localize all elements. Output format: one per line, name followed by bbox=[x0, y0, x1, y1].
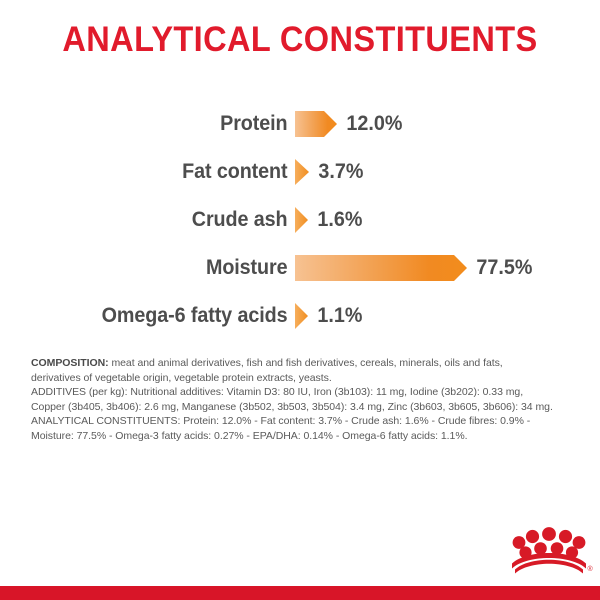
constituent-value: 1.6% bbox=[308, 208, 362, 232]
constituent-bar bbox=[295, 207, 308, 233]
page-title: ANALYTICAL CONSTITUENTS bbox=[21, 20, 579, 60]
composition-line-4: Copper (3b405, 3b406): 2.6 mg, Manganese… bbox=[31, 400, 576, 415]
constituent-label: Fat content bbox=[18, 160, 295, 184]
composition-text-block: COMPOSITION: meat and animal derivatives… bbox=[31, 356, 576, 444]
composition-lead-label: COMPOSITION: bbox=[31, 357, 109, 369]
constituent-value: 12.0% bbox=[337, 112, 402, 136]
constituent-row: Protein 12.0% bbox=[0, 100, 600, 148]
constituent-bar-wrap bbox=[295, 303, 308, 329]
constituent-label: Moisture bbox=[18, 256, 295, 280]
product-info-panel: ANALYTICAL CONSTITUENTS Protein 12.0% Fa… bbox=[0, 0, 600, 600]
constituent-bar-wrap bbox=[295, 111, 337, 137]
constituent-row: Crude ash 1.6% bbox=[0, 196, 600, 244]
constituent-label: Omega-6 fatty acids bbox=[18, 304, 295, 328]
constituent-bar-wrap bbox=[295, 207, 308, 233]
bottom-accent-bar bbox=[0, 586, 600, 600]
royal-canin-crown-logo: ® bbox=[505, 519, 595, 579]
constituent-value: 3.7% bbox=[309, 160, 363, 184]
constituent-row: Moisture 77.5% bbox=[0, 244, 600, 292]
composition-line-6: Moisture: 77.5% - Omega-3 fatty acids: 0… bbox=[31, 429, 576, 444]
constituent-bar-wrap bbox=[295, 255, 467, 281]
composition-line: COMPOSITION: meat and animal derivatives… bbox=[31, 356, 576, 371]
constituent-bar bbox=[295, 111, 337, 137]
composition-line-5: ANALYTICAL CONSTITUENTS: Protein: 12.0% … bbox=[31, 414, 576, 429]
registered-trademark-mark: ® bbox=[588, 565, 594, 573]
constituent-row: Omega-6 fatty acids 1.1% bbox=[0, 292, 600, 340]
composition-line-2: derivatives of vegetable origin, vegetab… bbox=[31, 371, 576, 386]
constituent-value: 1.1% bbox=[308, 304, 362, 328]
constituent-bar bbox=[295, 159, 309, 185]
constituent-value: 77.5% bbox=[467, 256, 532, 280]
composition-line-1: meat and animal derivatives, fish and fi… bbox=[109, 357, 503, 369]
analytical-constituents-chart: Protein 12.0% Fat content 3.7% Crude ash… bbox=[0, 100, 600, 340]
constituent-label: Crude ash bbox=[18, 208, 295, 232]
constituent-row: Fat content 3.7% bbox=[0, 148, 600, 196]
constituent-label: Protein bbox=[18, 112, 295, 136]
constituent-bar bbox=[295, 255, 467, 281]
crown-icon: ® bbox=[505, 519, 595, 579]
constituent-bar-wrap bbox=[295, 159, 309, 185]
constituent-bar bbox=[295, 303, 308, 329]
composition-line-3: ADDITIVES (per kg): Nutritional additive… bbox=[31, 385, 576, 400]
